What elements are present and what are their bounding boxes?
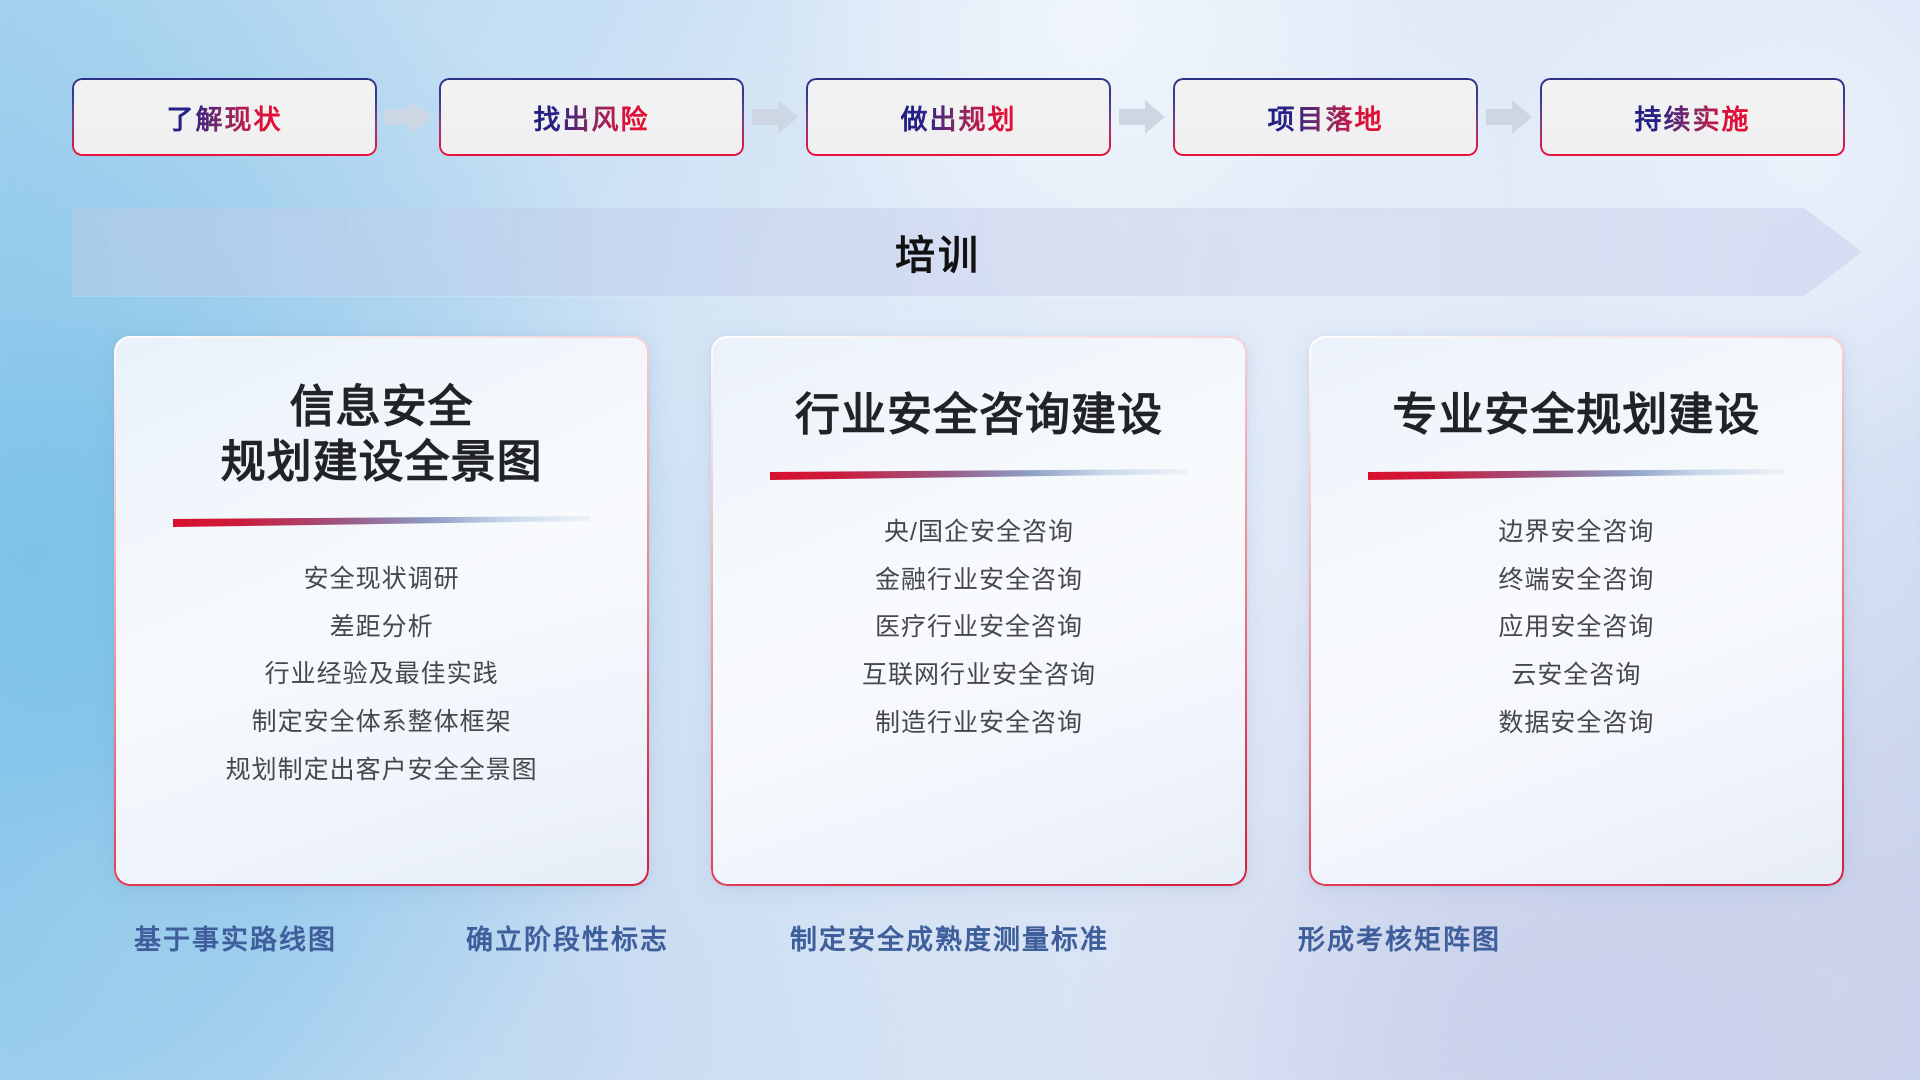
card-divider: [1368, 469, 1786, 481]
list-item: 终端安全咨询: [1498, 561, 1654, 600]
training-banner: 培训: [72, 208, 1862, 296]
process-steps: 了解现状 找出风险 做出规划 项目落地 持续实施: [72, 78, 1856, 156]
list-item: 差距分析: [330, 608, 434, 647]
step-box-4[interactable]: 项目落地: [1173, 78, 1478, 156]
card-information-security-panorama[interactable]: 信息安全 规划建设全景图 安全现状调研 差距分析 行: [114, 336, 649, 886]
list-item: 规划制定出客户安全全景图: [226, 751, 538, 790]
caption-maturity-standard: 制定安全成熟度测量标准: [790, 918, 1109, 957]
step-label-1: 了解现状: [167, 98, 283, 137]
card-title: 行业安全咨询建设: [795, 388, 1163, 443]
card-row: 信息安全 规划建设全景图 安全现状调研 差距分析 行: [114, 336, 1844, 886]
card-item-list: 央/国企安全咨询 金融行业安全咨询 医疗行业安全咨询 互联网行业安全咨询 制造行…: [862, 513, 1096, 743]
step-box-3[interactable]: 做出规划: [806, 78, 1111, 156]
card-divider: [173, 516, 591, 528]
list-item: 央/国企安全咨询: [884, 513, 1074, 552]
list-item: 安全现状调研: [304, 560, 460, 599]
list-item: 制造行业安全咨询: [875, 704, 1083, 743]
step-box-1[interactable]: 了解现状: [72, 78, 377, 156]
arrow-right-icon-4: [1478, 78, 1540, 156]
list-item: 金融行业安全咨询: [875, 561, 1083, 600]
card-divider: [770, 469, 1188, 481]
list-item: 制定安全体系整体框架: [252, 703, 512, 742]
list-item: 数据安全咨询: [1498, 704, 1654, 743]
card-item-list: 边界安全咨询 终端安全咨询 应用安全咨询 云安全咨询 数据安全咨询: [1498, 513, 1654, 743]
banner-title: 培训: [72, 208, 1804, 296]
card-title: 专业安全规划建设: [1392, 388, 1760, 443]
step-box-2[interactable]: 找出风险: [439, 78, 744, 156]
list-item: 互联网行业安全咨询: [862, 656, 1096, 695]
card-title: 信息安全 规划建设全景图: [221, 380, 543, 490]
step-label-3: 做出规划: [901, 98, 1017, 137]
step-label-2: 找出风险: [534, 98, 650, 137]
caption-roadmap: 基于事实路线图: [134, 918, 337, 957]
arrow-right-icon-1: [377, 78, 439, 156]
arrow-right-icon-2: [744, 78, 806, 156]
card-industry-security-consulting[interactable]: 行业安全咨询建设 央/国企安全咨询 金融行业安全咨询: [711, 336, 1246, 886]
list-item: 应用安全咨询: [1498, 608, 1654, 647]
arrow-right-icon-3: [1111, 78, 1173, 156]
list-item: 医疗行业安全咨询: [875, 608, 1083, 647]
list-item: 边界安全咨询: [1498, 513, 1654, 552]
list-item: 行业经验及最佳实践: [265, 655, 499, 694]
caption-row: 基于事实路线图 确立阶段性标志 制定安全成熟度测量标准 形成考核矩阵图: [0, 918, 1920, 970]
list-item: 云安全咨询: [1511, 656, 1641, 695]
step-box-5[interactable]: 持续实施: [1540, 78, 1845, 156]
caption-assessment-matrix: 形成考核矩阵图: [1298, 918, 1501, 957]
card-item-list: 安全现状调研 差距分析 行业经验及最佳实践 制定安全体系整体框架 规划制定出客户…: [226, 560, 538, 790]
card-professional-security-planning[interactable]: 专业安全规划建设 边界安全咨询 终端安全咨询 应用安: [1309, 336, 1844, 886]
step-label-4: 项目落地: [1268, 98, 1384, 137]
caption-milestones: 确立阶段性标志: [466, 918, 669, 957]
step-label-5: 持续实施: [1635, 98, 1751, 137]
